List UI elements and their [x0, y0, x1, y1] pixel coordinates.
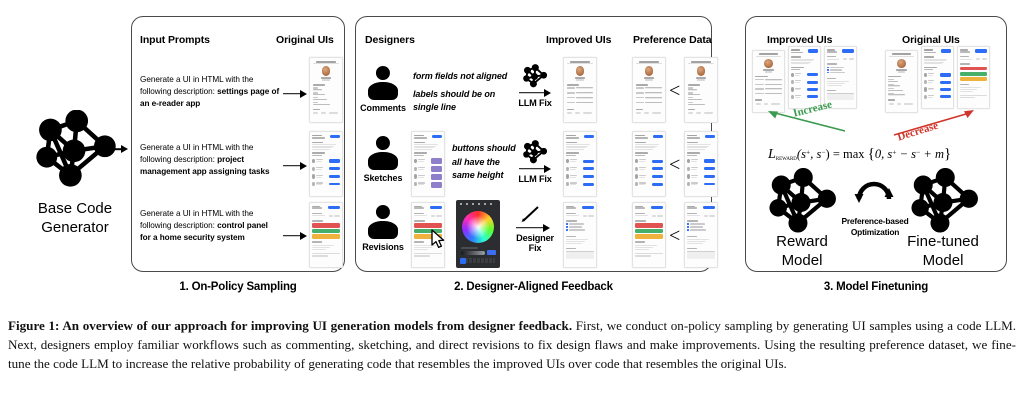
- ui-mock-element: [414, 142, 425, 144]
- ui-mock-element: [687, 251, 715, 259]
- ui-mock-element: [316, 175, 323, 176]
- ui-mock-element: [635, 167, 638, 171]
- preference-improved-row1: [632, 57, 666, 123]
- ui-mock-element: [791, 69, 800, 70]
- ui-mock-element: [888, 99, 895, 100]
- ui-mock-element: [313, 109, 320, 111]
- ui-mock-element: [334, 215, 340, 217]
- ui-mock-element: [312, 137, 325, 139]
- ui-mock-element: [688, 63, 714, 64]
- generator-title-line2: Generator: [10, 219, 140, 238]
- ui-mock-element: [687, 226, 689, 228]
- ui-mock-element: [687, 220, 698, 221]
- ui-mock-element: [566, 152, 579, 154]
- designer-label-comments: Comments: [358, 103, 408, 113]
- ui-mock-element: [924, 52, 936, 54]
- ui-mock-element: [636, 109, 643, 111]
- formula-close: ) = max: [826, 147, 865, 161]
- ui-mock-element: [704, 215, 708, 217]
- ui-mock-element: [312, 144, 336, 145]
- ui-mock-element: [566, 213, 576, 214]
- ui-mock-element: [687, 223, 689, 225]
- ui-mock-element: [827, 85, 843, 86]
- ui-mock-element: [414, 155, 424, 156]
- ui-mock-element: [635, 174, 638, 178]
- ui-mock-element: [763, 69, 774, 71]
- ui-thumbnail-ereader-improved: [563, 57, 597, 123]
- ui-mock-element: [960, 51, 970, 53]
- ui-mock-element: [657, 215, 663, 217]
- panel2-header-designers: Designers: [365, 34, 415, 46]
- ui-mock-element: [652, 215, 656, 217]
- ui-mock-element: [566, 241, 585, 242]
- ui-mock-element: [418, 167, 425, 168]
- ui-mock-element: [888, 90, 902, 91]
- ui-mock-element: [431, 166, 443, 172]
- ui-mock-element: [636, 87, 644, 88]
- ui-mock-avatar: [645, 66, 654, 75]
- ui-mock-element: [808, 49, 818, 53]
- ui-mock-element: [795, 75, 801, 76]
- ui-mock-element: [583, 215, 587, 217]
- ui-mock-element: [414, 182, 417, 186]
- preference-compare-row2: <: [669, 154, 680, 177]
- formula-L: L: [768, 147, 776, 162]
- ui-mock-element: [924, 95, 927, 99]
- ui-mock-element: [691, 61, 711, 63]
- ui-mock-element: [639, 161, 645, 162]
- ui-mock-element: [976, 58, 980, 60]
- ui-mock-element: [691, 161, 697, 162]
- ui-mock-element: [791, 60, 813, 61]
- ui-mock-element: [414, 223, 442, 227]
- panel3-original-ui-1: [885, 50, 918, 113]
- ui-mock-element: [827, 59, 839, 60]
- ui-mock-element: [960, 59, 972, 60]
- ui-mock-element: [924, 60, 946, 61]
- ui-mock-element: [687, 167, 690, 171]
- ui-mock-element: [414, 137, 427, 139]
- ui-mock-element: [924, 63, 942, 64]
- ui-mock-element: [705, 135, 715, 139]
- ui-mock-element: [316, 169, 322, 170]
- ui-mock-element: [755, 84, 763, 85]
- ui-mock-avatar: [897, 59, 906, 68]
- ui-mock-element: [635, 245, 657, 246]
- panel1-caption: 1. On-Policy Sampling: [131, 281, 345, 293]
- ui-mock-element: [312, 182, 315, 186]
- ui-mock-element: [575, 112, 580, 114]
- ui-mock-element: [639, 184, 645, 185]
- finetuned-model-icon: [905, 168, 981, 234]
- ui-mock-element: [688, 109, 695, 111]
- generator-title: Base Code Generator: [10, 200, 140, 238]
- ui-mock-element: [566, 182, 569, 186]
- ui-mock-element: [696, 112, 701, 114]
- ui-mock-element: [687, 142, 698, 144]
- ui-mock-element: [569, 229, 585, 230]
- ui-mock-element: [928, 73, 935, 74]
- ui-mock-element: [765, 79, 782, 81]
- ui-mock-element: [888, 81, 897, 82]
- ui-mock-element: [566, 142, 577, 144]
- ui-mock-element: [688, 104, 705, 106]
- ui-mock-element: [567, 92, 575, 93]
- ui-mock-element: [414, 249, 428, 250]
- ui-mock-element: [687, 239, 709, 240]
- ui-mock-element: [313, 104, 330, 106]
- ui-mock-element: [690, 223, 705, 224]
- llm-fix-icon-row2: [521, 140, 548, 164]
- ui-mock-element: [924, 49, 933, 50]
- comment-text-row1: form fields not aligned labels should be…: [413, 70, 523, 115]
- caption-label: Figure 1:: [8, 318, 59, 333]
- ui-mock-element: [635, 220, 646, 221]
- panel2-header-preference: Preference Data: [633, 34, 711, 46]
- generator-title-line1: Base Code: [10, 200, 140, 219]
- ui-mock-element: [807, 81, 818, 84]
- preference-original-row2: [684, 131, 718, 197]
- ui-mock-element: [418, 169, 424, 170]
- swatch-grid[interactable]: [461, 258, 495, 263]
- prompt-3-arrow: [283, 231, 307, 240]
- formula-args: (s: [797, 147, 806, 161]
- ui-mock-element: [635, 234, 663, 238]
- color-wheel[interactable]: [462, 211, 494, 243]
- ui-mock-element: [755, 99, 762, 100]
- avatar-head: [376, 66, 390, 80]
- ui-mock-element: [795, 95, 802, 96]
- ui-mock-element: [645, 79, 653, 80]
- ui-mock-element: [756, 56, 781, 57]
- ui-mock-element: [645, 102, 662, 104]
- ui-thumbnail-security-improved: [563, 202, 597, 268]
- comment-row1-line1: form fields not aligned: [413, 70, 523, 84]
- ui-mock-element: [791, 49, 800, 50]
- ui-mock-element: [940, 88, 951, 92]
- ui-mock-element: [316, 161, 322, 162]
- ui-mock-element: [889, 56, 914, 57]
- ui-mock-element: [687, 213, 697, 214]
- ui-mock-element: [313, 112, 318, 114]
- ui-mock-element: [827, 72, 829, 73]
- ui-mock-element: [827, 81, 849, 82]
- prompt-item-2: Generate a UI in HTML with the following…: [140, 142, 280, 178]
- ui-mock-element: [635, 142, 646, 144]
- ui-thumbnail-ereader-original: [309, 57, 343, 123]
- ui-mock-element: [313, 89, 323, 91]
- ui-mock-element: [414, 167, 417, 171]
- ui-mock-element: [567, 84, 580, 86]
- ui-mock-element: [636, 112, 641, 114]
- formula-brace-open: {: [868, 146, 875, 162]
- ui-mock-element: [635, 241, 645, 242]
- ui-mock-element: [652, 183, 664, 186]
- ui-mock-element: [690, 229, 706, 230]
- formula-comma: , s: [810, 147, 821, 161]
- ui-mock-element: [687, 149, 706, 150]
- ui-mock-element: [414, 149, 433, 150]
- reward-model-icon: [763, 168, 839, 234]
- avatar-head: [376, 205, 390, 219]
- ui-mock-element: [567, 109, 574, 111]
- ui-mock-element: [765, 71, 772, 72]
- ui-mock-element: [313, 99, 328, 101]
- ui-mock-element: [687, 135, 697, 137]
- ui-mock-element: [583, 160, 595, 163]
- ui-mock-element: [704, 183, 716, 186]
- ui-mock-element: [635, 213, 645, 214]
- ui-mock-element: [795, 97, 801, 98]
- ui-mock-element: [312, 159, 315, 163]
- ui-mock-element: [960, 84, 969, 85]
- ui-mock-element: [312, 215, 325, 216]
- ui-mock-avatar: [764, 59, 773, 68]
- ui-mock-element: [566, 144, 590, 145]
- ui-mock-element: [827, 56, 836, 57]
- ui-mock-element: [566, 223, 568, 225]
- ui-mock-element: [635, 152, 648, 154]
- ui-mock-element: [312, 174, 315, 178]
- color-picker-panel[interactable]: [456, 200, 500, 268]
- ui-mock-element: [566, 155, 576, 156]
- ui-mock-element: [688, 102, 694, 103]
- ui-mock-element: [582, 206, 594, 210]
- ui-mock-element: [312, 241, 322, 242]
- ui-mock-element: [635, 249, 649, 250]
- ui-mock-element: [566, 239, 588, 240]
- ui-mock-element: [635, 182, 638, 186]
- ui-mock-element: [575, 77, 586, 79]
- ui-mock-element: [688, 89, 698, 91]
- ui-mock-element: [704, 112, 714, 114]
- ui-mock-element: [691, 177, 697, 178]
- ui-mock-element: [329, 183, 341, 186]
- ui-mock-element: [328, 206, 340, 210]
- ui-mock-element: [569, 223, 584, 224]
- preference-improved-row2: [632, 131, 666, 197]
- ui-mock-element: [765, 88, 782, 90]
- ui-mock-element: [687, 207, 697, 209]
- ui-mock-element: [566, 159, 569, 163]
- llm-fix-label-row1: LLM Fix: [510, 98, 560, 108]
- ui-mock-element: [687, 137, 700, 139]
- ui-mock-element: [690, 226, 703, 227]
- ui-mock-element: [897, 103, 902, 105]
- ui-mock-element: [755, 79, 763, 80]
- ui-mock-element: [928, 97, 934, 98]
- ui-mock-element: [636, 92, 644, 93]
- ui-mock-element: [791, 87, 794, 91]
- ui-mock-element: [576, 87, 593, 89]
- ui-mock-element: [576, 97, 593, 99]
- ui-mock-element: [312, 135, 322, 137]
- figure-root: Base Code Generator Input Prompts Origin…: [0, 0, 1024, 417]
- ui-mock-element: [329, 215, 333, 217]
- formula-dash: − s: [896, 147, 916, 161]
- ui-mock-element: [569, 226, 582, 227]
- ui-mock-element: [567, 87, 575, 88]
- ui-mock-element: [898, 71, 905, 72]
- ui-mock-element: [566, 149, 585, 150]
- designer-fix-label-line2: Fix: [505, 243, 565, 253]
- ui-mock-element: [827, 69, 829, 70]
- reward-model-title: Reward Model: [750, 233, 854, 271]
- ui-mock-element: [576, 92, 593, 94]
- panel3-caption: 3. Model Finetuning: [745, 281, 1007, 293]
- ui-thumbnail-project-original: [309, 131, 343, 197]
- ui-mock-element: [321, 77, 332, 79]
- ui-mock-element: [755, 76, 767, 77]
- ui-mock-element: [771, 103, 780, 105]
- ui-mock-element: [807, 95, 818, 98]
- ui-mock-element: [687, 155, 697, 156]
- llm-fix-arrow-row2: [519, 164, 551, 173]
- ui-mock-element: [583, 112, 593, 114]
- ui-mock-element: [431, 182, 443, 188]
- ui-mock-element: [807, 88, 818, 91]
- ui-mock-element: [316, 61, 336, 63]
- ui-mock-element: [687, 152, 700, 154]
- ui-mock-element: [639, 169, 645, 170]
- ui-mock-element: [570, 161, 576, 162]
- ui-mock-element: [418, 175, 425, 176]
- panel3-header-original: Original UIs: [902, 34, 960, 46]
- ui-mock-element: [928, 89, 934, 90]
- ui-mock-element: [312, 247, 330, 248]
- ui-mock-element: [904, 103, 913, 105]
- panel3-original-ui-3: [957, 46, 990, 109]
- ui-mock-element: [827, 67, 829, 68]
- generator-to-panel1-arrow: [100, 144, 128, 154]
- ui-mock-element: [830, 67, 844, 68]
- ui-mock-element: [414, 144, 438, 145]
- ui-mock-element: [635, 229, 663, 233]
- ui-mock-element: [928, 82, 934, 83]
- ui-mock-element: [312, 152, 325, 154]
- ui-mock-element: [687, 236, 697, 237]
- ui-mock-element: [570, 169, 576, 170]
- ui-mock-element: [566, 137, 579, 139]
- ui-mock-element: [316, 184, 322, 185]
- ui-mock-element: [312, 155, 322, 156]
- comment-row1-line2: labels should be on: [413, 88, 523, 102]
- panel3-header-improved: Improved UIs: [767, 34, 832, 46]
- ui-mock-element: [755, 93, 763, 94]
- ui-mock-element: [418, 161, 424, 162]
- formula-brace-close: }: [944, 146, 951, 162]
- preference-original-row3: [684, 202, 718, 268]
- ui-mock-element: [688, 99, 703, 101]
- preference-compare-row3: <: [669, 225, 680, 248]
- ui-mock-element: [418, 184, 424, 185]
- avatar-body: [368, 221, 398, 239]
- ui-mock-element: [566, 236, 576, 237]
- ui-mock-element: [312, 149, 331, 150]
- ui-mock-element: [431, 215, 435, 217]
- ui-mock-element: [570, 184, 576, 185]
- ui-mock-element: [566, 243, 582, 244]
- formula-zero: 0, s: [875, 147, 892, 161]
- ui-mock-element: [329, 167, 341, 170]
- ui-mock-element: [414, 215, 427, 216]
- ui-mock-element: [635, 155, 645, 156]
- ui-mock-element: [313, 102, 319, 103]
- ui-mock-element: [566, 229, 568, 231]
- ui-mock-element: [940, 95, 951, 97]
- ui-mock-element: [312, 167, 315, 171]
- pencil-icon: [520, 205, 542, 223]
- ui-mock-element: [636, 63, 662, 64]
- ui-mock-avatar: [576, 66, 585, 75]
- ui-mock-element: [755, 88, 763, 89]
- ui-mock-element: [842, 49, 854, 52]
- ui-mock-element: [830, 72, 846, 73]
- designer-label-sketches: Sketches: [358, 173, 408, 183]
- ui-mock-element: [888, 85, 900, 86]
- ui-mock-element: [687, 241, 706, 242]
- designer-label-revisions: Revisions: [358, 242, 408, 252]
- ui-mock-element: [567, 112, 572, 114]
- ui-thumbnail-project-improved: [563, 131, 597, 197]
- ui-mock-element: [644, 112, 649, 114]
- ui-mock-element: [827, 83, 846, 84]
- ui-mock-avatar: [697, 66, 706, 75]
- ui-mock-element: [431, 174, 443, 180]
- ui-mock-element: [756, 103, 761, 105]
- ui-mock-element: [312, 207, 322, 209]
- ui-mock-element: [414, 255, 430, 256]
- ui-mock-element: [570, 61, 590, 63]
- ui-mock-element: [566, 220, 577, 221]
- ui-mock-element: [653, 135, 663, 139]
- ui-mock-element: [928, 95, 935, 96]
- ui-mock-element: [687, 159, 690, 163]
- ui-mock-element: [940, 73, 951, 77]
- ui-mock-element: [975, 49, 987, 52]
- ui-mock-element: [764, 103, 769, 105]
- ui-mock-element: [704, 175, 716, 179]
- ui-mock-element: [635, 137, 648, 139]
- ui-thumbnail-project-sketch: [411, 131, 445, 197]
- ui-mock-element: [795, 89, 801, 90]
- ui-mock-element: [567, 63, 593, 64]
- ui-mock-element: [312, 229, 340, 233]
- ui-mock-element: [566, 167, 569, 171]
- opacity-slider[interactable]: [461, 251, 485, 255]
- ui-mock-element: [688, 84, 701, 86]
- ui-mock-element: [687, 229, 689, 231]
- ui-mock-element: [635, 149, 654, 150]
- ui-mock-element: [645, 97, 662, 99]
- ui-mock-element: [570, 167, 577, 168]
- finetuned-model-line1: Fine-tuned: [888, 233, 998, 252]
- panel2-caption: 2. Designer-Aligned Feedback: [355, 281, 712, 293]
- ui-mock-element: [583, 167, 595, 170]
- ui-mock-element: [940, 81, 951, 84]
- ui-mock-element: [924, 87, 927, 91]
- ui-mock-element: [827, 63, 838, 64]
- avatar-body: [368, 152, 398, 170]
- ui-mock-element: [639, 167, 646, 168]
- prompt-item-1: Generate a UI in HTML with the following…: [140, 74, 280, 110]
- ui-mock-element: [312, 223, 340, 227]
- ui-mock-element: [843, 58, 847, 60]
- formula-plus-m: + m: [920, 147, 944, 161]
- designer-avatar-sketches: [368, 136, 398, 170]
- ui-mock-element: [312, 255, 328, 256]
- ui-mock-element: [584, 135, 594, 139]
